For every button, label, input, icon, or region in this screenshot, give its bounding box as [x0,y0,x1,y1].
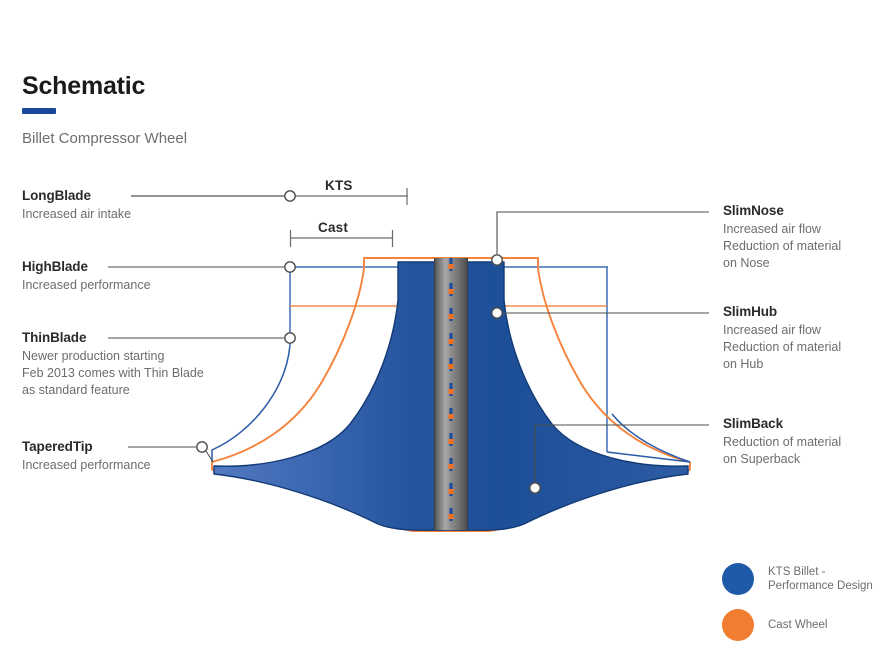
callout-desc-highblade: Increased performance [22,277,151,294]
callout-slimhub: SlimHub Increased air flow Reduction of … [723,304,841,373]
leader-slimhub [492,308,709,318]
legend: KTS Billet - Performance Design Cast Whe… [722,563,873,655]
callout-title-slimback: SlimBack [723,416,841,431]
callout-title-slimhub: SlimHub [723,304,841,319]
legend-item-kts-billet: KTS Billet - Performance Design [722,563,873,595]
legend-swatch-cast-wheel [722,609,754,641]
callout-desc-longblade: Increased air intake [22,206,131,223]
callout-title-slimnose: SlimNose [723,203,841,218]
callout-slimnose: SlimNose Increased air flow Reduction of… [723,203,841,272]
legend-label-cast-wheel: Cast Wheel [768,618,827,632]
dimension-label-cast: Cast [318,220,348,235]
legend-label-kts-billet: KTS Billet - Performance Design [768,565,873,593]
callout-desc-taperedtip: Increased performance [22,457,151,474]
callout-desc-slimhub: Increased air flow Reduction of material… [723,322,841,373]
callout-title-thinblade: ThinBlade [22,330,204,345]
callout-taperedtip: TaperedTip Increased performance [22,439,151,474]
callout-title-taperedtip: TaperedTip [22,439,151,454]
dimension-label-kts: KTS [325,178,353,193]
legend-swatch-kts-billet [722,563,754,595]
callout-desc-slimback: Reduction of material on Superback [723,434,841,468]
callout-slimback: SlimBack Reduction of material on Superb… [723,416,841,468]
schematic-page: Schematic Billet Compressor Wheel [0,0,883,667]
callout-highblade: HighBlade Increased performance [22,259,151,294]
callout-desc-slimnose: Increased air flow Reduction of material… [723,221,841,272]
legend-item-cast-wheel: Cast Wheel [722,609,873,641]
callout-title-longblade: LongBlade [22,188,131,203]
callout-desc-thinblade: Newer production starting Feb 2013 comes… [22,348,204,399]
callout-longblade: LongBlade Increased air intake [22,188,131,223]
callout-thinblade: ThinBlade Newer production starting Feb … [22,330,204,399]
callout-title-highblade: HighBlade [22,259,151,274]
